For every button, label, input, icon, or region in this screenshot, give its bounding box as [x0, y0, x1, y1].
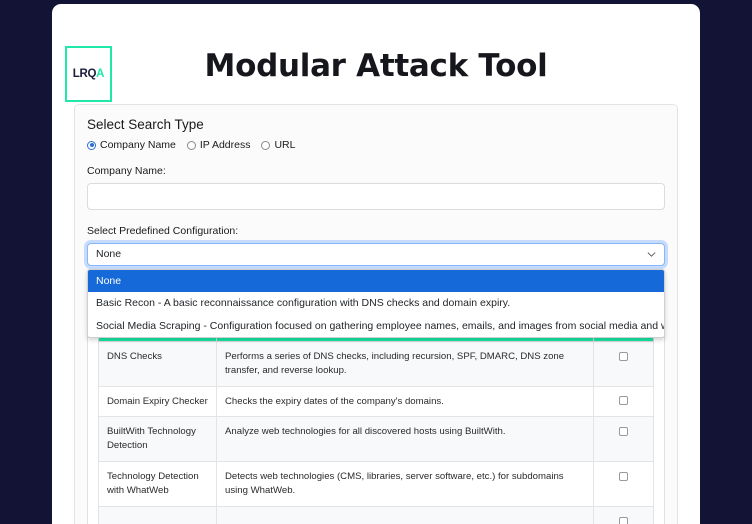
table-row: BuiltWith Technology Detection Analyze w…: [99, 417, 654, 462]
config-option-basic-recon[interactable]: Basic Recon - A basic reconnaissance con…: [88, 292, 664, 315]
radio-url-indicator[interactable]: [261, 141, 270, 150]
module-checkbox[interactable]: [619, 472, 628, 481]
module-select-cell: [594, 462, 654, 507]
page-card: LRQA Modular Attack Tool Select Search T…: [52, 4, 700, 524]
module-checkbox[interactable]: [619, 427, 628, 436]
table-row: Domain Expiry Checker Checks the expiry …: [99, 386, 654, 417]
radio-url-label: URL: [274, 140, 295, 151]
module-description-cell: Performs a series of DNS checks, includi…: [217, 341, 594, 386]
module-name-cell: [99, 507, 217, 524]
config-select[interactable]: None: [87, 243, 665, 266]
module-name-cell: Technology Detection with WhatWeb: [99, 462, 217, 507]
radio-url[interactable]: URL: [261, 140, 295, 151]
config-option-social-media-scraping[interactable]: Social Media Scraping - Configuration fo…: [88, 315, 664, 338]
config-label: Select Predefined Configuration:: [87, 225, 665, 237]
search-type-radio-group: Company Name IP Address URL: [87, 140, 665, 151]
company-name-label: Company Name:: [87, 165, 665, 177]
module-checkbox[interactable]: [619, 352, 628, 361]
company-name-input[interactable]: [87, 183, 665, 210]
config-dropdown-list[interactable]: None Basic Recon - A basic reconnaissanc…: [87, 269, 665, 339]
table-row: [99, 507, 654, 524]
table-row: Technology Detection with WhatWeb Detect…: [99, 462, 654, 507]
page-header: LRQA Modular Attack Tool: [52, 4, 700, 100]
config-select-value: None: [96, 249, 647, 260]
chevron-down-icon: [647, 250, 656, 259]
search-type-heading: Select Search Type: [87, 117, 665, 133]
module-name-cell: DNS Checks: [99, 341, 217, 386]
module-select-cell: [594, 417, 654, 462]
module-description-cell: Detects web technologies (CMS, libraries…: [217, 462, 594, 507]
search-panel: Select Search Type Company Name IP Addre…: [74, 104, 678, 524]
module-select-cell: [594, 386, 654, 417]
radio-company-name[interactable]: Company Name: [87, 140, 176, 151]
page-title: Modular Attack Tool: [52, 48, 700, 84]
module-description-cell: [217, 507, 594, 524]
radio-ip-address-indicator[interactable]: [187, 141, 196, 150]
config-option-none[interactable]: None: [88, 270, 664, 293]
radio-company-name-indicator[interactable]: [87, 141, 96, 150]
module-select-cell: [594, 507, 654, 524]
modules-table: Module Name Description Select DNS Check…: [98, 315, 654, 524]
module-name-cell: BuiltWith Technology Detection: [99, 417, 217, 462]
radio-company-name-label: Company Name: [100, 140, 176, 151]
config-select-wrapper: None None Basic Recon - A basic reconnai…: [87, 243, 665, 266]
module-description-cell: Checks the expiry dates of the company's…: [217, 386, 594, 417]
table-row: DNS Checks Performs a series of DNS chec…: [99, 341, 654, 386]
module-name-cell: Domain Expiry Checker: [99, 386, 217, 417]
module-checkbox[interactable]: [619, 517, 628, 524]
module-select-cell: [594, 341, 654, 386]
module-checkbox[interactable]: [619, 396, 628, 405]
radio-ip-address-label: IP Address: [200, 140, 251, 151]
module-description-cell: Analyze web technologies for all discove…: [217, 417, 594, 462]
radio-ip-address[interactable]: IP Address: [187, 140, 251, 151]
